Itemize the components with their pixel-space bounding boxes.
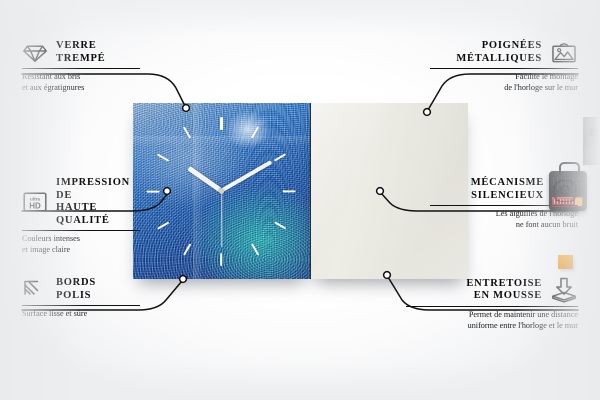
- gear-icon: [552, 178, 578, 202]
- feature-title: BORDS POLIS: [56, 277, 96, 302]
- divider: [22, 230, 140, 231]
- clock-tick: [147, 190, 160, 192]
- feature-verre-trempe: VERRE TREMPÉ Résistant aux bris et aux é…: [22, 40, 140, 93]
- feature-description: Les aiguilles de l'horloge ne font aucun…: [430, 209, 578, 229]
- feature-title: POIGNÉES MÉTALLIQUES: [456, 40, 542, 65]
- diamond-icon: [22, 43, 48, 63]
- feature-description: Facilite le montage de l'horloge sur le …: [430, 72, 578, 92]
- clock-center-hub: [219, 189, 224, 194]
- feature-poignees-metalliques: POIGNÉES MÉTALLIQUES Facilite le montage…: [430, 40, 578, 93]
- feature-description: Résistant aux bris et aux égratignures: [22, 72, 140, 92]
- svg-text:HD: HD: [29, 201, 41, 210]
- feature-title: VERRE TREMPÉ: [56, 40, 105, 65]
- divider: [430, 205, 578, 206]
- feature-title: IMPRESSION DE HAUTE QUALITÉ: [56, 177, 140, 227]
- feature-description: Couleurs intenses et image claire: [22, 234, 140, 254]
- divider: [22, 305, 140, 306]
- infographic-canvas: VERRE TREMPÉ Résistant aux bris et aux é…: [0, 0, 600, 400]
- divider: [430, 68, 578, 69]
- foam-spacer: [558, 255, 573, 269]
- feature-description: Permet de maintenir une distance uniform…: [406, 310, 578, 330]
- divider: [22, 68, 140, 69]
- clock-tick: [283, 190, 296, 192]
- feature-title: MÉCANISME SILENCIEUX: [471, 177, 544, 202]
- feature-bords-polis: BORDS POLIS Surface lisse et sûre: [22, 277, 140, 320]
- ultra-hd-badge-icon: ultra HD: [22, 191, 48, 213]
- feature-mecanisme-silencieux: MÉCANISME SILENCIEUX Les aiguilles de l'…: [430, 177, 578, 230]
- metal-hanger-plate: [583, 117, 600, 165]
- feature-entretoise-en-mousse: ENTRETOISE EN MOUSSE Permet de maintenir…: [406, 277, 578, 331]
- product-image: [133, 103, 467, 279]
- divider: [406, 306, 578, 307]
- polished-edge-icon: [22, 279, 48, 301]
- clock-front-panel: [133, 103, 310, 279]
- clock-tick: [220, 117, 222, 130]
- feature-impression-haute-qualite: ultra HD IMPRESSION DE HAUTE QUALITÉ Cou…: [22, 177, 140, 255]
- clock-second-hand: [221, 191, 222, 247]
- feature-description: Surface lisse et sûre: [22, 309, 140, 319]
- picture-hanger-icon: [550, 41, 578, 65]
- feature-title: ENTRETOISE EN MOUSSE: [466, 278, 542, 303]
- foam-spacer-arrow-icon: [550, 277, 578, 303]
